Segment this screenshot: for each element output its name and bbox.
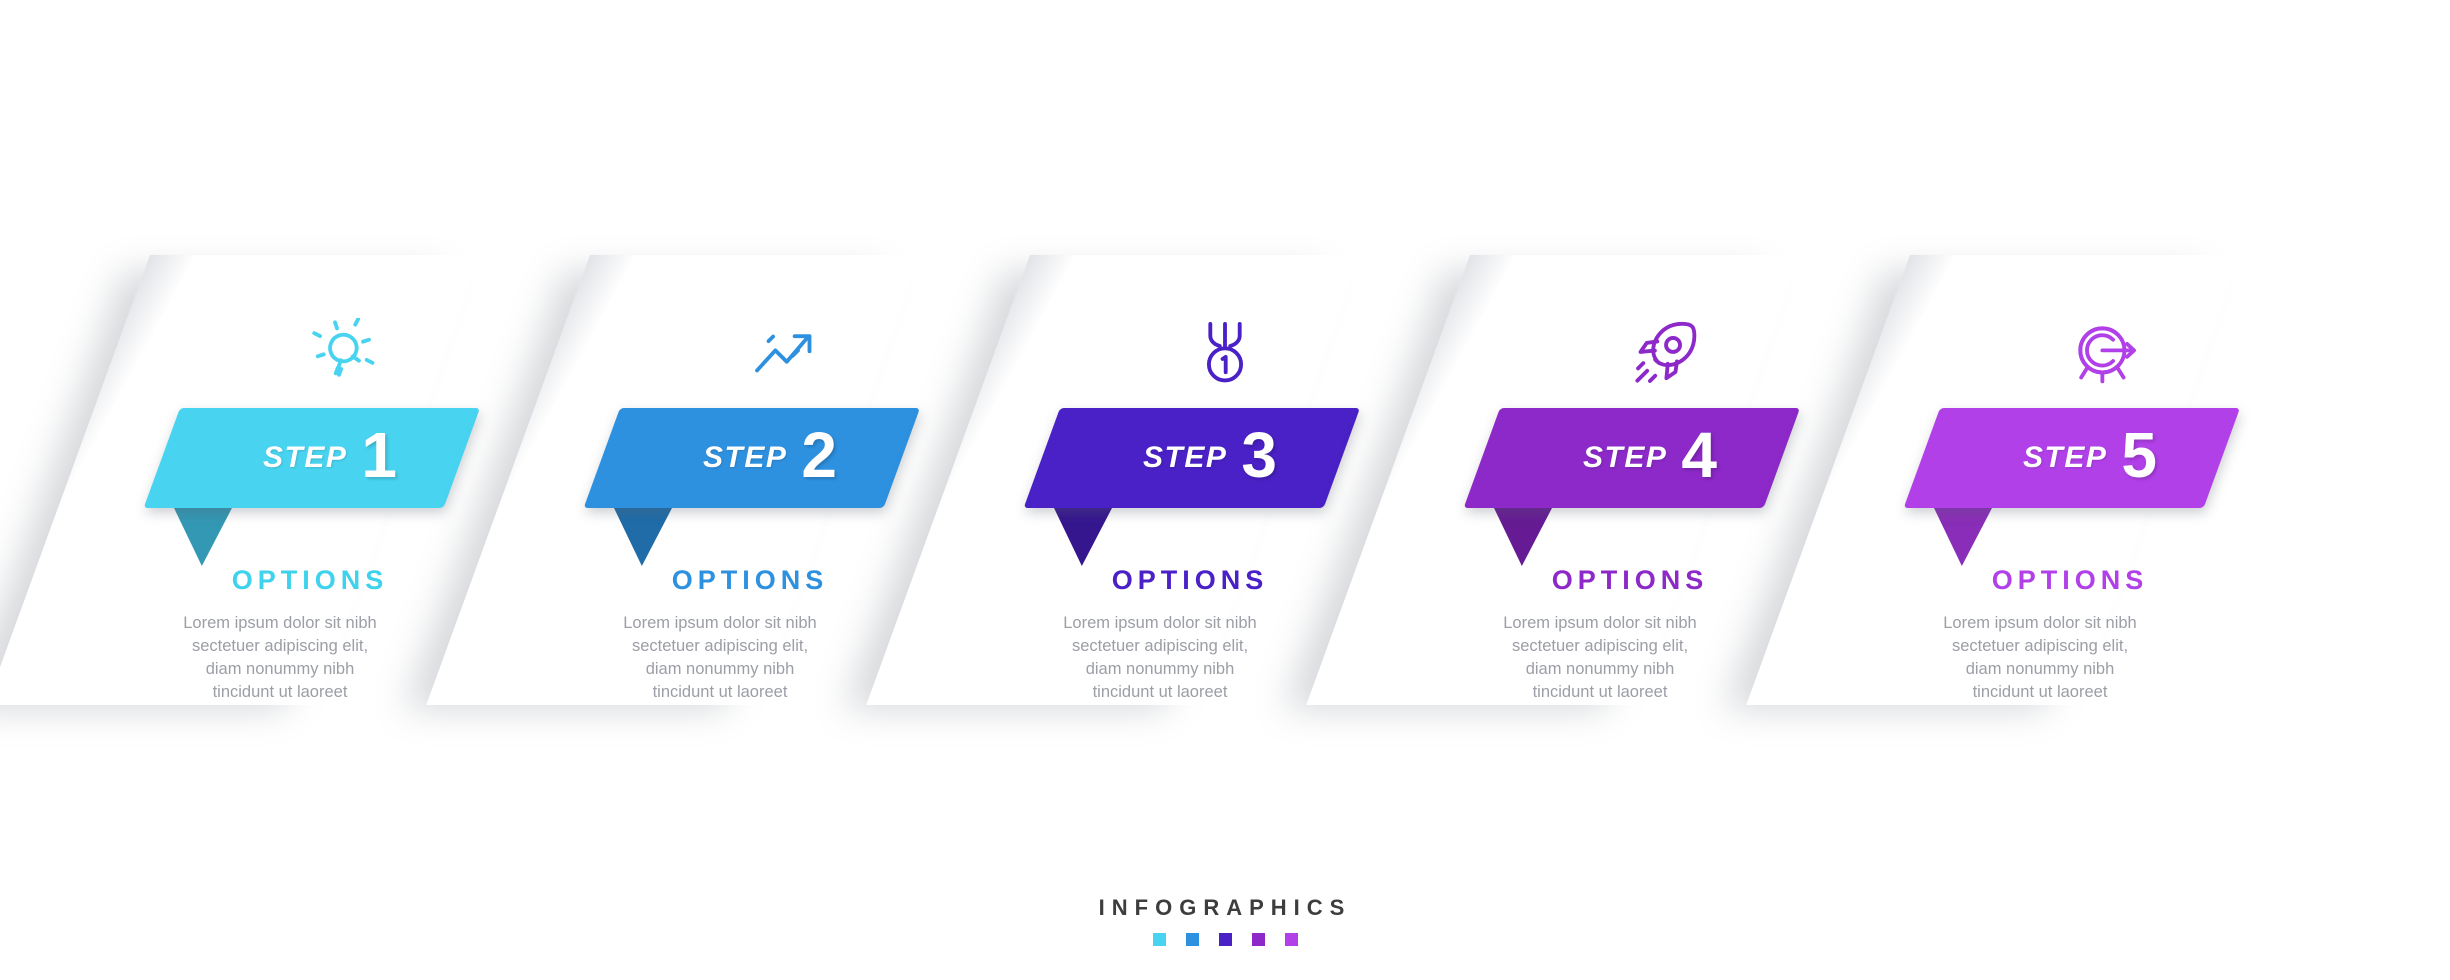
description-line: sectetuer adipiscing elit, [1470, 635, 1730, 658]
description-line: tincidunt ut laoreet [1910, 681, 2170, 704]
description-line: tincidunt ut laoreet [150, 681, 410, 704]
step-banner[interactable]: STEP3 [1060, 408, 1360, 508]
rocket-icon [1630, 318, 1700, 388]
step-banner[interactable]: STEP4 [1500, 408, 1800, 508]
description-line: Lorem ipsum dolor sit nibh [1470, 612, 1730, 635]
options-heading: OPTIONS [1940, 565, 2200, 596]
step-banner[interactable]: STEP2 [620, 408, 920, 508]
infographic-canvas: STEP1OPTIONSLorem ipsum dolor sit nibhse… [0, 0, 2450, 980]
description-line: diam nonummy nibh [1030, 658, 1290, 681]
step-banner[interactable]: STEP5 [1940, 408, 2240, 508]
step-description: Lorem ipsum dolor sit nibhsectetuer adip… [1910, 612, 2170, 704]
options-heading: OPTIONS [1060, 565, 1320, 596]
description-line: diam nonummy nibh [1470, 658, 1730, 681]
banner-shape [1464, 408, 1800, 508]
medal-icon [1190, 318, 1260, 388]
description-line: tincidunt ut laoreet [1470, 681, 1730, 704]
description-line: Lorem ipsum dolor sit nibh [590, 612, 850, 635]
description-line: diam nonummy nibh [590, 658, 850, 681]
description-line: Lorem ipsum dolor sit nibh [1910, 612, 2170, 635]
steps-container: STEP1OPTIONSLorem ipsum dolor sit nibhse… [0, 0, 2450, 800]
banner-shape [1904, 408, 2240, 508]
step-description: Lorem ipsum dolor sit nibhsectetuer adip… [1470, 612, 1730, 704]
legend-dot-3 [1219, 933, 1232, 946]
banner-shape [144, 408, 480, 508]
legend-dot-5 [1285, 933, 1298, 946]
footer: INFOGRAPHICS [0, 895, 2450, 946]
description-line: tincidunt ut laoreet [1030, 681, 1290, 704]
growth-chart-icon [750, 318, 820, 388]
description-line: sectetuer adipiscing elit, [1030, 635, 1290, 658]
color-legend-dots [0, 933, 2450, 946]
banner-shape [584, 408, 920, 508]
step-banner[interactable]: STEP1 [180, 408, 480, 508]
description-line: sectetuer adipiscing elit, [1910, 635, 2170, 658]
footer-title: INFOGRAPHICS [0, 895, 2450, 921]
description-line: tincidunt ut laoreet [590, 681, 850, 704]
options-heading: OPTIONS [180, 565, 440, 596]
target-arrow-icon [2070, 318, 2140, 388]
legend-dot-1 [1153, 933, 1166, 946]
description-line: diam nonummy nibh [1910, 658, 2170, 681]
step-description: Lorem ipsum dolor sit nibhsectetuer adip… [1030, 612, 1290, 704]
legend-dot-4 [1252, 933, 1265, 946]
description-line: sectetuer adipiscing elit, [150, 635, 410, 658]
step-card-5[interactable]: STEP5OPTIONSLorem ipsum dolor sit nibhse… [1910, 0, 2330, 800]
lightbulb-icon [310, 318, 380, 388]
description-line: sectetuer adipiscing elit, [590, 635, 850, 658]
description-line: Lorem ipsum dolor sit nibh [150, 612, 410, 635]
step-description: Lorem ipsum dolor sit nibhsectetuer adip… [150, 612, 410, 704]
description-line: Lorem ipsum dolor sit nibh [1030, 612, 1290, 635]
legend-dot-2 [1186, 933, 1199, 946]
options-heading: OPTIONS [1500, 565, 1760, 596]
banner-shape [1024, 408, 1360, 508]
step-description: Lorem ipsum dolor sit nibhsectetuer adip… [590, 612, 850, 704]
description-line: diam nonummy nibh [150, 658, 410, 681]
options-heading: OPTIONS [620, 565, 880, 596]
